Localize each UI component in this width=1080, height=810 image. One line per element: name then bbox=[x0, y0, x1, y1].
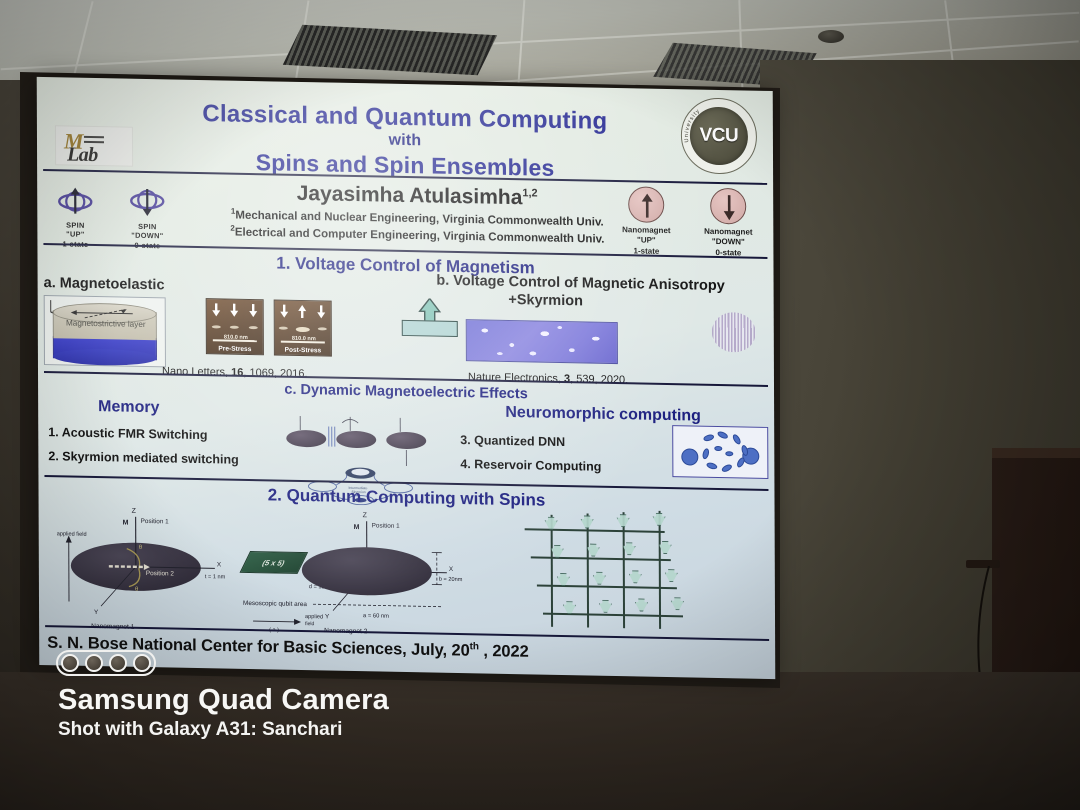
svg-text:Position 2: Position 2 bbox=[146, 570, 175, 578]
spin-up-icon bbox=[53, 185, 97, 216]
magnetization-arrows-icon bbox=[63, 306, 143, 322]
mlab-logo-icon: M Lab bbox=[55, 125, 133, 167]
arrow-down-icon bbox=[229, 303, 240, 318]
camera-lens-1 bbox=[61, 654, 79, 672]
quad-camera-lens-icon bbox=[56, 650, 156, 676]
svg-text:t = 1 nm: t = 1 nm bbox=[205, 574, 226, 580]
arrow-down-icon bbox=[248, 303, 259, 318]
nanomagnet-legend-item-up: Nanomagnet "UP" 1-state bbox=[609, 186, 683, 258]
camera-lens-4 bbox=[133, 654, 151, 672]
svg-text:applied field: applied field bbox=[57, 531, 87, 538]
spin-down-icon bbox=[125, 187, 169, 218]
section1-part-b-sublabel: +Skyrmion bbox=[436, 291, 656, 311]
vcu-seal-ring-text: Virginia Commonwealth University bbox=[682, 98, 758, 175]
nanomagnet-up-circle bbox=[628, 186, 664, 223]
neuromorphic-item-1: 3. Quantized DNN bbox=[460, 433, 565, 449]
svg-text:a = 60 nm: a = 60 nm bbox=[363, 613, 389, 620]
svg-text:applied: applied bbox=[305, 614, 323, 620]
projection-screen: Classical and Quantum Computing with Spi… bbox=[37, 77, 776, 679]
memory-heading: Memory bbox=[98, 398, 159, 417]
section1-part-a-label: a. Magnetoelastic bbox=[44, 275, 165, 293]
nanodisc-micrograph bbox=[712, 312, 756, 353]
author-block: Jayasimha Atulasimha1,2 1Mechanical and … bbox=[207, 180, 627, 246]
voltage-stack-diagram bbox=[402, 298, 458, 339]
voltage-electrode-plate bbox=[402, 320, 458, 337]
neuromorphic-item-2: 4. Reservoir Computing bbox=[460, 457, 601, 474]
arrow-down-icon bbox=[316, 304, 327, 319]
svg-text:Z: Z bbox=[132, 508, 137, 515]
spin-lattice-grid bbox=[525, 506, 696, 629]
svg-text:Mesoscopic qubit area: Mesoscopic qubit area bbox=[243, 600, 307, 608]
arrow-down-icon bbox=[711, 189, 747, 226]
svg-text:Position 1: Position 1 bbox=[141, 518, 170, 526]
arrow-down-icon bbox=[279, 304, 290, 319]
svg-text:M: M bbox=[354, 524, 360, 531]
svg-text:Y: Y bbox=[94, 609, 99, 616]
vcu-seal-icon: Virginia Commonwealth University VCU bbox=[681, 97, 757, 174]
svg-text:θ: θ bbox=[139, 545, 143, 551]
slide-content: Classical and Quantum Computing with Spi… bbox=[37, 77, 776, 679]
memory-item-1: 1. Acoustic FMR Switching bbox=[48, 425, 207, 442]
memory-item-2: 2. Skyrmion mediated switching bbox=[48, 449, 238, 467]
svg-text:field: field bbox=[305, 621, 314, 627]
svg-text:X: X bbox=[217, 561, 222, 568]
spin-legend-item-up: SPIN "UP" 1-state bbox=[47, 185, 103, 249]
mfm-image-pre-stress: 810.0 nm Pre-Stress bbox=[206, 298, 264, 355]
neuromorphic-heading: Neuromorphic computing bbox=[458, 403, 748, 427]
arrow-up-icon bbox=[629, 187, 665, 224]
svg-text:X: X bbox=[449, 566, 454, 573]
mfm-scale-label: 810.0 nm bbox=[281, 336, 327, 343]
mfm-arrow-row bbox=[275, 303, 331, 319]
camera-watermark: Samsung Quad Camera Shot with Galaxy A31… bbox=[58, 684, 389, 741]
smoke-detector-icon bbox=[818, 30, 844, 43]
reservoir-computing-diagram bbox=[672, 425, 768, 479]
camera-lens-3 bbox=[109, 654, 127, 672]
nanomagnet-legend-item-down: Nanomagnet "DOWN" 0-state bbox=[691, 187, 765, 259]
svg-text:University: University bbox=[684, 108, 702, 143]
mfm-caption-pre-stress: Pre-Stress bbox=[207, 345, 263, 353]
nanomagnet-down-circle bbox=[710, 188, 746, 225]
svg-text:Y: Y bbox=[325, 613, 330, 620]
podium-top-surface bbox=[992, 448, 1080, 458]
skyrmion-micrograph bbox=[466, 319, 618, 364]
mfm-image-post-stress: 810.0 nm Post-Stress bbox=[274, 299, 332, 356]
svg-text:θ: θ bbox=[135, 587, 139, 593]
mfm-arrow-row bbox=[207, 302, 263, 318]
photo-scene: Classical and Quantum Computing with Spi… bbox=[0, 0, 1080, 810]
svg-text:Virginia Commonwealth: Virginia Commonwealth bbox=[682, 98, 685, 100]
magnetoelastic-diagram: Magnetostrictive layer bbox=[44, 295, 166, 367]
svg-text:b = 20nm: b = 20nm bbox=[439, 577, 463, 583]
svg-text:Position 1: Position 1 bbox=[372, 522, 401, 530]
mfm-caption-post-stress: Post-Stress bbox=[275, 346, 331, 354]
arrow-down-icon bbox=[211, 302, 222, 317]
mlab-logo-word: Lab bbox=[67, 143, 98, 167]
spin-legend: SPIN "UP" 1-state SPIN "DOWN" bbox=[47, 185, 175, 250]
fmr-axes-icon bbox=[286, 414, 426, 471]
nanomagnet-legend: Nanomagnet "UP" 1-state Nanomagnet bbox=[609, 186, 765, 259]
svg-text:M: M bbox=[123, 520, 129, 527]
acoustic-fmr-diagram bbox=[286, 414, 426, 471]
mfm-scale-label: 810.0 nm bbox=[213, 334, 259, 341]
watermark-line-2: Shot with Galaxy A31: Sanchari bbox=[58, 719, 389, 741]
qubit-chip-5x5: (5 x 5) bbox=[240, 551, 309, 574]
watermark-line-1: Samsung Quad Camera bbox=[58, 684, 389, 717]
camera-lens-2 bbox=[85, 654, 103, 672]
citation-nano-letters: Nano Letters, 16, 1069, 2016. bbox=[162, 365, 308, 380]
svg-text:Z: Z bbox=[363, 512, 368, 519]
arrow-up-icon bbox=[297, 304, 308, 319]
spin-legend-item-down: SPIN "DOWN" 0-state bbox=[119, 186, 175, 250]
